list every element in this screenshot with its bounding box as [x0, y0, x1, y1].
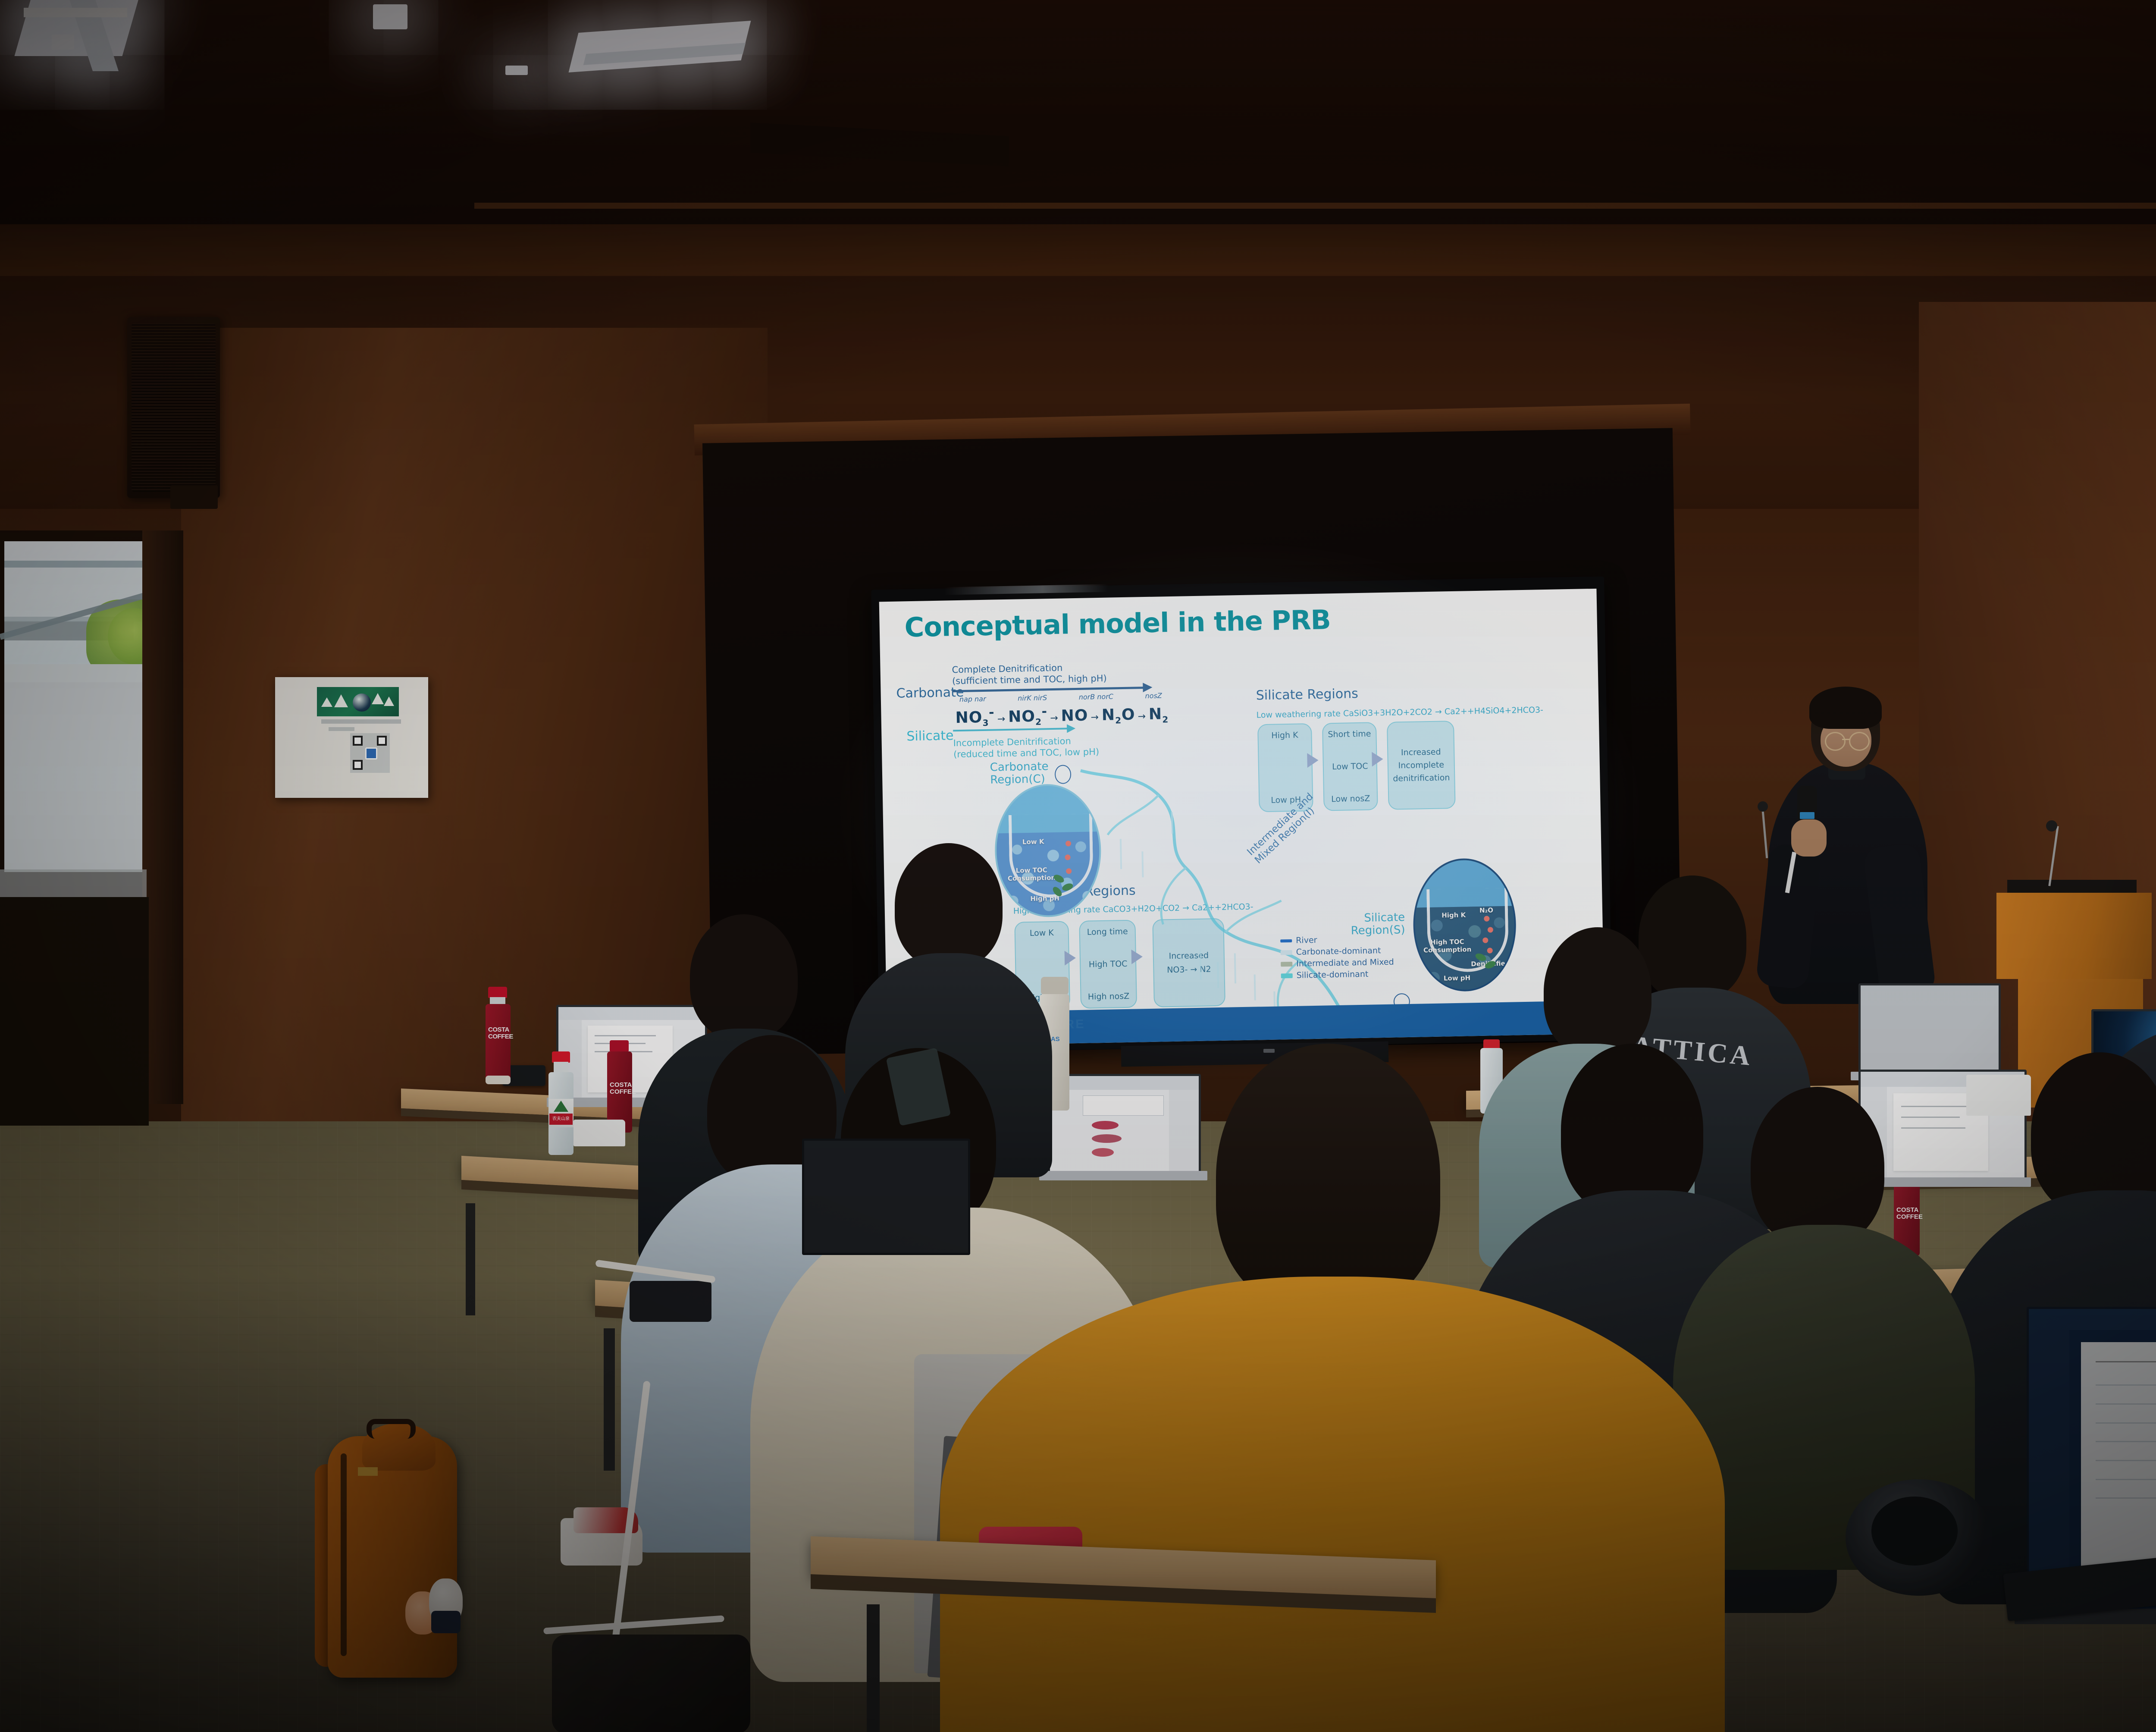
bag-on-floor [552, 1635, 750, 1732]
chart-panel [1083, 1095, 1164, 1116]
tissue-box [1966, 1075, 2031, 1116]
caption-line-2: (reduced time and TOC, low pH) [953, 746, 1099, 760]
bottle-neck [554, 1062, 568, 1073]
phone[interactable] [630, 1281, 711, 1322]
headphone-earcup [1871, 1497, 1958, 1566]
head [690, 914, 798, 1039]
row-label-carbonate: Carbonate [896, 685, 964, 701]
text-line [1901, 1106, 1968, 1107]
table-leg [604, 1328, 615, 1471]
arrowhead-icon [1143, 683, 1152, 692]
denitrification-chain: NO3-→NO2-→NO→N2O→N2 [955, 702, 1169, 728]
text-line [1901, 1127, 1966, 1129]
qr-marker [377, 736, 387, 746]
row-label-silicate: Silicate [906, 728, 954, 744]
microphone-icon [2046, 820, 2057, 831]
head [1639, 875, 1746, 1001]
ceiling-light-strip [24, 8, 127, 17]
text-line [2096, 1422, 2156, 1424]
text-line [2096, 1441, 2156, 1442]
silicate-region-diagram: High K High TOCConsumption Denitrifier L… [1412, 857, 1517, 992]
flow-line: Increased [1391, 747, 1451, 758]
caption-line-2: (sufficient time and TOC, high pH) [952, 673, 1107, 687]
bottle-brand-label: COSTA COFFEE [488, 1026, 508, 1057]
flow-line: Short time [1326, 729, 1373, 739]
qr-center-logo [365, 747, 377, 759]
carbonate-region-label: CarbonateRegion(C) [990, 760, 1049, 786]
lower-left-wall [0, 897, 149, 1126]
text-line [2096, 1361, 2156, 1362]
complete-denitrification-caption: Complete Denitrification (sufficient tim… [952, 662, 1107, 687]
laptop-base[interactable] [1039, 1171, 1207, 1180]
circle-label-lowph: Low pH [1444, 974, 1471, 982]
glasses-icon [1825, 732, 1846, 751]
violin-plot-shape [1092, 1148, 1114, 1157]
ceiling-downlight [373, 4, 407, 29]
bottle-cap [552, 1051, 570, 1063]
head [1216, 1044, 1440, 1311]
microphone-band [1800, 812, 1814, 819]
backpack-zipper [341, 1453, 347, 1656]
text-line [1901, 1117, 1960, 1118]
laptop-toolbar [2029, 1309, 2156, 1330]
qr-marker [353, 760, 363, 770]
bottle-brand-label: 农夫山泉 [549, 1114, 573, 1125]
presenter-hair [1809, 687, 1882, 729]
ceiling-downlight [505, 66, 528, 75]
laptop-document [2081, 1342, 2156, 1578]
bottle-cap [610, 1040, 629, 1051]
flow-line: denitrification [1391, 773, 1451, 784]
text-line [2096, 1384, 2156, 1386]
legend-item: Intermediate and Mixed [1281, 957, 1394, 970]
slide-title: Conceptual model in the PRB [904, 604, 1331, 643]
river-basin-map [1055, 757, 1361, 1030]
laptop-screen[interactable] [802, 1139, 970, 1255]
silicate-regions-heading: Silicate Regions [1256, 686, 1358, 703]
legend-label: River [1296, 935, 1317, 947]
bottle-brand-label: COSTA COFFEE [610, 1082, 630, 1112]
laptop-sidebar [1169, 1090, 1199, 1173]
gene-label: nirK nirS [1018, 693, 1047, 702]
head [1751, 1087, 1884, 1246]
violin-plot-shape [1092, 1121, 1119, 1130]
laptop-toolbar [1050, 1076, 1199, 1090]
gene-label: norB norC [1079, 692, 1114, 701]
soffit-edge [474, 203, 2156, 209]
circle-label-lowtoc: Low TOCConsumption [1006, 866, 1058, 882]
flow-arrow-icon [1372, 752, 1383, 766]
microphone-icon [1758, 801, 1768, 812]
map-legend: River Carbonate-dominant Intermediate an… [1280, 933, 1394, 982]
plush-charm-body [431, 1611, 461, 1633]
circle-label-n2o: N₂O [1479, 906, 1493, 914]
gene-label-row: nap nar nirK nirS norB norC nosZ [959, 691, 1162, 703]
circle-label-highk: High K [1442, 911, 1466, 919]
glasses-icon [1849, 732, 1870, 751]
legend-swatch [1281, 973, 1293, 978]
bottle-brand-label: COSTA COFFEE [1896, 1207, 1917, 1239]
legend-swatch [1281, 962, 1292, 966]
poster-text-line [321, 719, 401, 724]
poster-globe-icon [353, 693, 371, 712]
display-power-led [1263, 1049, 1275, 1053]
gene-label: nosZ [1145, 691, 1162, 700]
arrow-complete [952, 687, 1146, 692]
bottle-bottom [486, 1076, 511, 1084]
table-leg [867, 1604, 880, 1732]
text-line [2096, 1479, 2156, 1480]
legend-item: Silicate-dominant [1281, 968, 1394, 982]
wall-plate [170, 485, 218, 509]
legend-swatch [1280, 939, 1292, 942]
legend-swatch [1281, 950, 1292, 955]
text-line [595, 1035, 656, 1036]
text-line [2096, 1460, 2156, 1461]
circle-label-highph: High pH [1030, 894, 1059, 903]
text-line [2096, 1497, 2156, 1499]
qr-marker [353, 736, 363, 746]
bottle-cap [488, 987, 507, 998]
laptop-ui [1050, 1076, 1199, 1173]
backpack-handle[interactable] [367, 1419, 416, 1439]
head [895, 843, 1003, 968]
ceiling-downlight [52, 35, 74, 50]
silicate-flow-box: Increased Incomplete denitrification [1387, 721, 1456, 810]
circle-label-hightoc: High TOCConsumption [1421, 938, 1473, 954]
floor-threshold [0, 869, 147, 900]
text-line [2096, 1403, 2156, 1405]
laptop-screen[interactable] [1048, 1074, 1201, 1175]
laptop-screen[interactable] [1858, 983, 2001, 1076]
bottle-cap [1483, 1039, 1500, 1049]
legend-label: Silicate-dominant [1296, 969, 1368, 982]
backpack[interactable] [328, 1436, 457, 1678]
laptop-toolbar [558, 1007, 705, 1020]
flow-line: Incomplete [1391, 760, 1451, 771]
speaker-grill [132, 323, 216, 492]
tissue [573, 1120, 625, 1146]
backpack-tag [358, 1467, 378, 1476]
podium [1996, 893, 2152, 979]
carbonate-region-diagram: Low K Low TOCConsumption High pH [994, 783, 1103, 918]
silicate-weathering-equation: Low weathering rate CaSiO3+3H2O+2CO2 → C… [1256, 705, 1543, 720]
incomplete-denitrification-caption: Incomplete Denitrification (reduced time… [953, 735, 1099, 760]
circle-label-lowk: Low K [1022, 838, 1044, 846]
legend-label: Intermediate and Mixed [1296, 957, 1394, 970]
torso [940, 1277, 1725, 1732]
lecture-hall-photo: 安全出口 EXIT Conceptual model in the PRB Ca… [0, 0, 2156, 1732]
thermos-cap [1041, 977, 1069, 995]
glasses-bridge [1842, 739, 1850, 740]
table-leg [466, 1203, 475, 1315]
head [1544, 927, 1651, 1057]
violin-plot-shape [1092, 1134, 1122, 1143]
legend-label: Carbonate-dominant [1296, 945, 1381, 958]
flow-line: High K [1261, 730, 1308, 740]
gene-label: nap nar [959, 695, 986, 703]
poster-text-line [329, 727, 354, 731]
presenter-hand [1791, 819, 1827, 857]
